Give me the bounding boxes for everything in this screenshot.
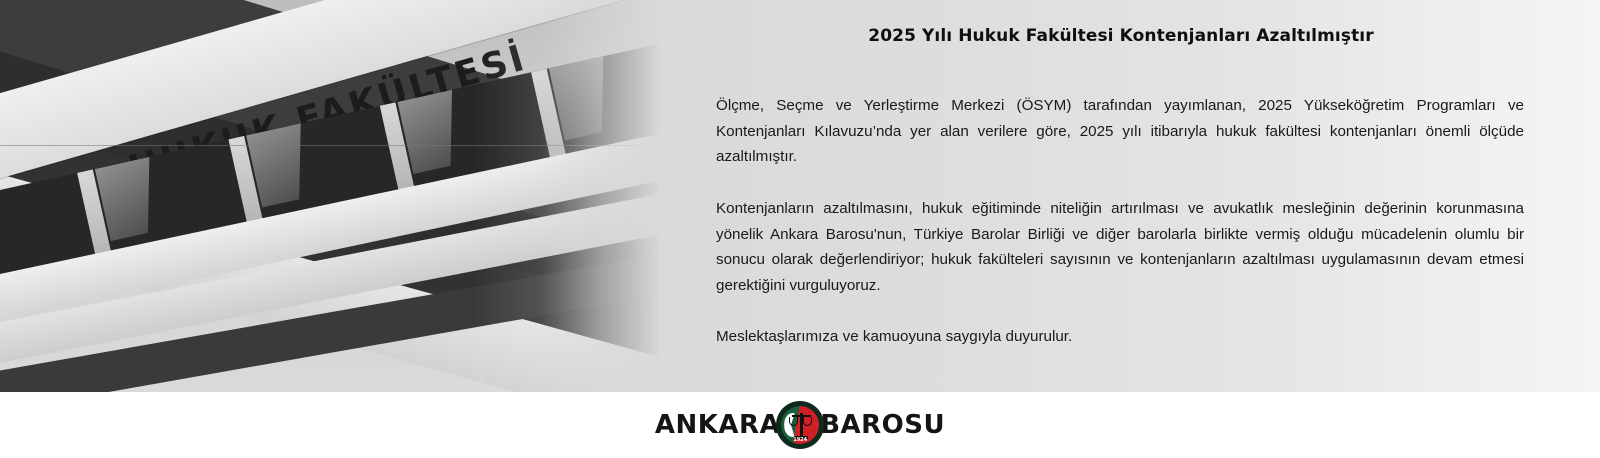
photo-hairline-divider xyxy=(0,145,660,146)
page-title: 2025 Yılı Hukuk Fakültesi Kontenjanları … xyxy=(716,26,1526,46)
emblem-scales-pan-left xyxy=(789,417,798,426)
logo-word-ankara: ANKARA xyxy=(655,410,780,440)
emblem-year-label: 1924 xyxy=(781,437,819,443)
announcement-paragraph-2: Kontenjanların azaltılmasını, hukuk eğit… xyxy=(716,196,1524,298)
emblem-inner-disc: 1924 xyxy=(781,406,819,444)
footer-area: ANKARA 1924 BAROSU xyxy=(0,392,1600,458)
ankara-barosu-logo[interactable]: ANKARA 1924 BAROSU xyxy=(0,402,1600,448)
emblem-scales-pan-right xyxy=(803,417,812,426)
announcement-paragraph-3: Meslektaşlarımıza ve kamuoyuna saygıyla … xyxy=(716,324,1524,350)
photo-window-shade xyxy=(0,190,14,274)
announcement-content: 2025 Yılı Hukuk Fakültesi Kontenjanları … xyxy=(716,0,1526,392)
announcement-paragraph-1: Ölçme, Seçme ve Yerleştirme Merkezi (ÖSY… xyxy=(716,93,1524,170)
law-faculty-building-photo: HUKUK FAKÜLTESİ xyxy=(0,0,660,392)
banner-area: HUKUK FAKÜLTESİ 2025 Yılı Hukuk Fakültes… xyxy=(0,0,1600,392)
logo-word-barosu: BAROSU xyxy=(820,410,945,440)
ankara-barosu-emblem-icon: 1924 xyxy=(776,401,824,449)
announcement-banner-page: HUKUK FAKÜLTESİ 2025 Yılı Hukuk Fakültes… xyxy=(0,0,1600,458)
